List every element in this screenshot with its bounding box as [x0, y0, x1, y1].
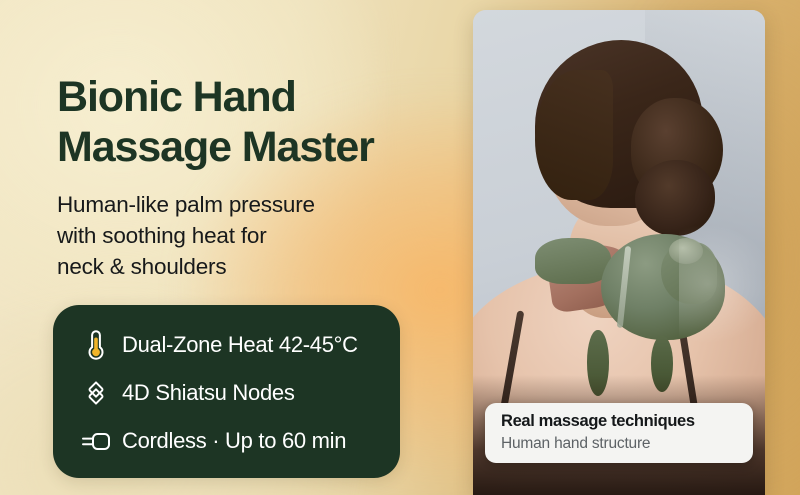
headline-line-1: Bionic Hand — [57, 73, 457, 123]
feature-label-heat: Dual-Zone Heat 42-45°C — [122, 332, 358, 358]
photo-caption-card: Real massage techniques Human hand struc… — [485, 403, 753, 463]
subheadline-line-3: neck & shoulders — [57, 251, 417, 282]
photo-highlight — [679, 224, 765, 344]
feature-label-nodes: 4D Shiatsu Nodes — [122, 380, 295, 406]
promo-banner: Bionic Hand Massage Master Human-like pa… — [0, 0, 800, 495]
headline-line-2: Massage Master — [57, 123, 457, 173]
caption-subtitle: Human hand structure — [501, 435, 650, 453]
subheadline-line-2: with soothing heat for — [57, 220, 417, 251]
page-title: Bionic Hand Massage Master — [57, 73, 457, 173]
left-content-column: Bionic Hand Massage Master Human-like pa… — [0, 0, 470, 495]
feature-label-cordless: Cordless · Up to 60 min — [122, 428, 346, 454]
caption-title: Real massage techniques — [501, 412, 695, 431]
model-hair-front — [535, 70, 613, 200]
feature-row-cordless: Cordless · Up to 60 min — [53, 421, 400, 461]
thermometer-icon — [79, 329, 113, 361]
subheadline-line-1: Human-like palm pressure — [57, 189, 417, 220]
subheadline: Human-like palm pressure with soothing h… — [57, 189, 417, 282]
feature-row-nodes: 4D Shiatsu Nodes — [53, 373, 400, 413]
feature-list-card: Dual-Zone Heat 42-45°C 4D Shiatsu Nodes — [53, 305, 400, 478]
feature-row-heat: Dual-Zone Heat 42-45°C — [53, 325, 400, 365]
quatrefoil-node-icon — [79, 380, 113, 406]
massager-finger-pads — [535, 238, 611, 284]
cordless-plug-icon — [79, 429, 113, 453]
